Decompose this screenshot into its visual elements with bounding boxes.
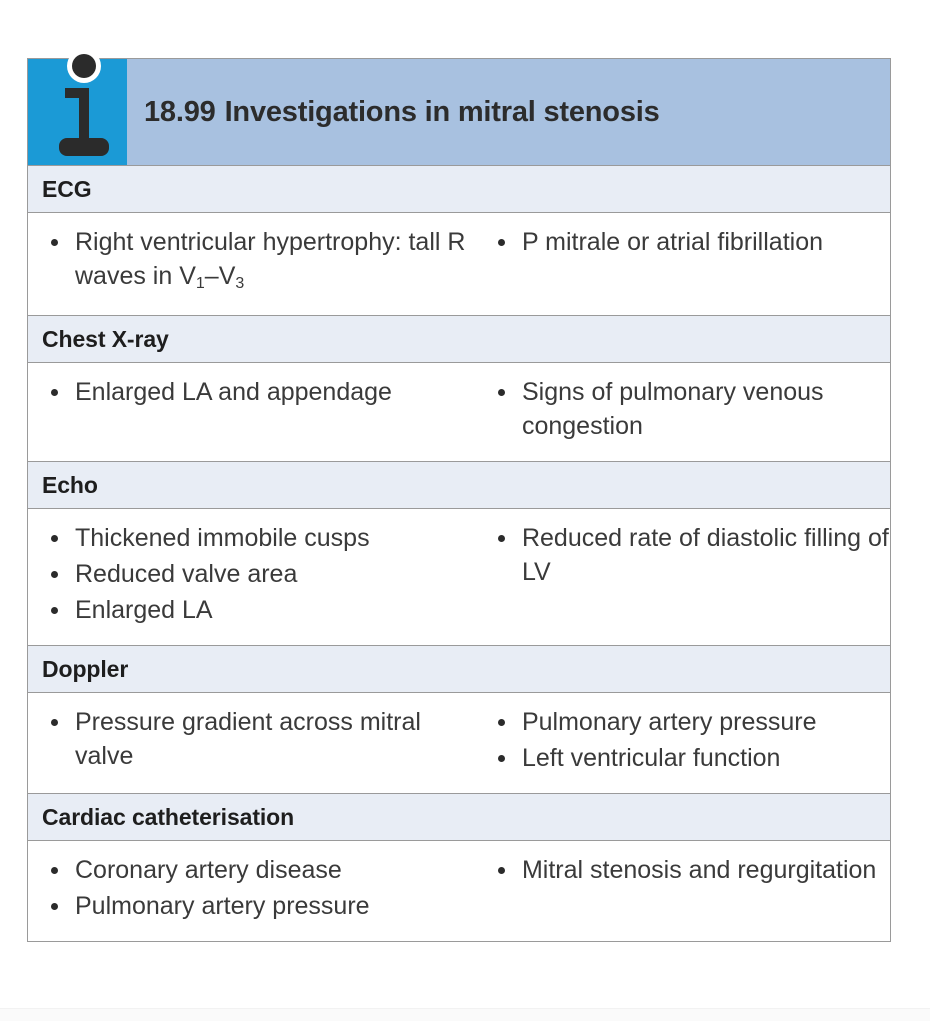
page-canvas: 18.99Investigations in mitral stenosis E…: [0, 0, 930, 1021]
bullet-list: Enlarged LA and appendage: [42, 375, 475, 409]
list-item: Enlarged LA and appendage: [42, 375, 475, 409]
section-body-ecg: Right ventricular hypertrophy: tall R wa…: [28, 213, 890, 315]
list-item: Mitral stenosis and regurgitation: [489, 853, 890, 887]
bullet-list: Pressure gradient across mitral valve: [42, 705, 475, 773]
bullet-list: P mitrale or atrial fibrillation: [489, 225, 890, 259]
column-left: Pressure gradient across mitral valve: [28, 705, 475, 777]
list-item: Enlarged LA: [42, 593, 475, 627]
list-item: Thickened immobile cusps: [42, 521, 475, 555]
column-left: Coronary artery disease Pulmonary artery…: [28, 853, 475, 925]
list-item: Pressure gradient across mitral valve: [42, 705, 475, 773]
list-item: P mitrale or atrial fibrillation: [489, 225, 890, 259]
section-header-chest-xray: Chest X-ray: [28, 315, 890, 363]
column-left: Enlarged LA and appendage: [28, 375, 475, 445]
box-title-text: Investigations in mitral stenosis: [225, 96, 660, 128]
list-item: Pulmonary artery pressure: [42, 889, 475, 923]
column-left: Thickened immobile cusps Reduced valve a…: [28, 521, 475, 629]
page-bottom-band: [0, 1008, 930, 1021]
section-header-label: Chest X-ray: [42, 326, 169, 353]
section-header-ecg: ECG: [28, 165, 890, 213]
column-right: Pulmonary artery pressure Left ventricul…: [475, 705, 890, 777]
column-left: Right ventricular hypertrophy: tall R wa…: [28, 225, 475, 299]
bullet-list: Reduced rate of diastolic filling of LV: [489, 521, 890, 589]
list-item: Right ventricular hypertrophy: tall R wa…: [42, 225, 475, 297]
list-item: Left ventricular function: [489, 741, 890, 775]
list-item: Coronary artery disease: [42, 853, 475, 887]
list-item: Reduced valve area: [42, 557, 475, 591]
box-title: 18.99Investigations in mitral stenosis: [144, 96, 660, 129]
column-right: Reduced rate of diastolic filling of LV: [475, 521, 890, 629]
column-right: P mitrale or atrial fibrillation: [475, 225, 890, 299]
section-header-label: Doppler: [42, 656, 128, 683]
section-header-label: Cardiac catheterisation: [42, 804, 294, 831]
column-right: Signs of pulmonary venous congestion: [475, 375, 890, 445]
bullet-list: Right ventricular hypertrophy: tall R wa…: [42, 225, 475, 297]
section-body-doppler: Pressure gradient across mitral valve Pu…: [28, 693, 890, 793]
section-body-chest-xray: Enlarged LA and appendage Signs of pulmo…: [28, 363, 890, 461]
bullet-list: Pulmonary artery pressure Left ventricul…: [489, 705, 890, 775]
section-header-echo: Echo: [28, 461, 890, 509]
section-header-cardiac-catheterisation: Cardiac catheterisation: [28, 793, 890, 841]
list-item: Pulmonary artery pressure: [489, 705, 890, 739]
section-header-label: Echo: [42, 472, 98, 499]
section-body-cardiac-catheterisation: Coronary artery disease Pulmonary artery…: [28, 841, 890, 941]
bullet-list: Thickened immobile cusps Reduced valve a…: [42, 521, 475, 627]
column-right: Mitral stenosis and regurgitation: [475, 853, 890, 925]
section-header-doppler: Doppler: [28, 645, 890, 693]
box-header: 18.99Investigations in mitral stenosis: [28, 59, 890, 165]
info-i-icon: [55, 46, 113, 165]
box-number: 18.99: [144, 96, 216, 128]
list-item: Signs of pulmonary venous congestion: [489, 375, 890, 443]
bullet-list: Signs of pulmonary venous congestion: [489, 375, 890, 443]
list-item: Reduced rate of diastolic filling of LV: [489, 521, 890, 589]
info-box: 18.99Investigations in mitral stenosis E…: [27, 58, 891, 942]
bullet-list: Mitral stenosis and regurgitation: [489, 853, 890, 887]
section-body-echo: Thickened immobile cusps Reduced valve a…: [28, 509, 890, 645]
section-header-label: ECG: [42, 176, 92, 203]
bullet-list: Coronary artery disease Pulmonary artery…: [42, 853, 475, 923]
